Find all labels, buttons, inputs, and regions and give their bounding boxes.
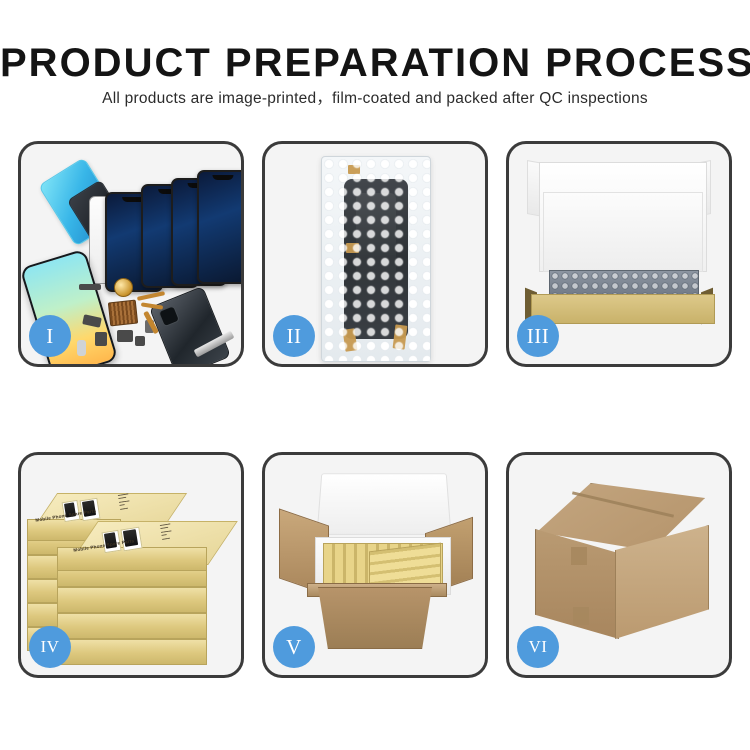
phone-display-d-icon [197, 170, 244, 284]
process-step-panel-1[interactable]: I [18, 141, 244, 367]
sim-tray-icon [77, 340, 86, 356]
tape-icon [346, 243, 359, 253]
step-badge-5: V [273, 626, 315, 668]
process-step-panel-5[interactable]: V [262, 452, 488, 678]
step-badge-4: IV [29, 626, 71, 668]
process-step-panel-2[interactable]: II [262, 141, 488, 367]
stacked-box [57, 587, 207, 613]
flex-cable-icon [137, 291, 165, 301]
carton-tape-icon [571, 547, 587, 565]
process-step-panel-4[interactable]: Mobile Phone Spare Parts ▬▬▬▬ ▬▬▬ ▬▬▬▬ ▬… [18, 452, 244, 678]
carton-front-icon [313, 587, 437, 649]
step-badge-1: I [29, 315, 71, 357]
chip-grid-icon [108, 300, 138, 327]
step-badge-3: III [517, 315, 559, 357]
bubble-wrap-bag-icon [321, 156, 431, 362]
process-step-panel-3[interactable]: III [506, 141, 732, 367]
small-part-icon [79, 284, 101, 290]
stacked-box [57, 639, 207, 665]
kraft-box-front-icon [531, 294, 715, 324]
process-step-grid: I II III [0, 0, 750, 750]
phone-notch-icon [212, 175, 233, 180]
foam-sheet-icon [543, 192, 703, 272]
small-part-icon [135, 336, 145, 346]
phone-back-housing-icon [149, 286, 231, 367]
wrapped-screen-part-icon [344, 179, 408, 339]
step-badge-6: VI [517, 626, 559, 668]
speaker-coil-icon [114, 278, 133, 297]
small-part-icon [117, 330, 133, 342]
carton-tape-icon [573, 607, 589, 625]
small-part-icon [95, 332, 107, 346]
process-step-panel-6[interactable]: VI [506, 452, 732, 678]
step-badge-2: II [273, 315, 315, 357]
tape-icon [348, 165, 360, 174]
stacked-box [57, 613, 207, 639]
foam-lid-open-icon [317, 473, 452, 535]
tape-icon [393, 324, 408, 349]
